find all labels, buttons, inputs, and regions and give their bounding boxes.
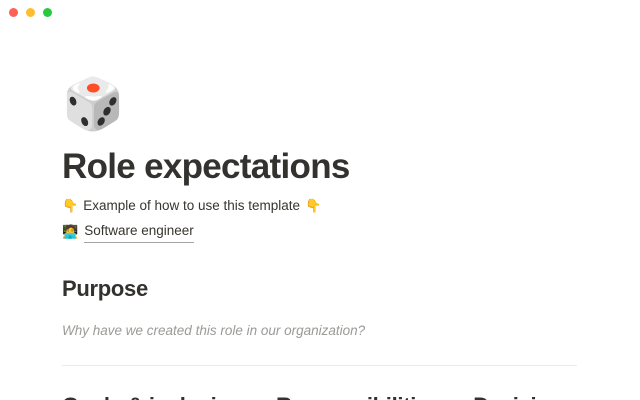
close-window-button[interactable]	[9, 8, 18, 17]
window-titlebar	[0, 0, 640, 28]
technologist-icon: 🧑‍💻	[62, 222, 78, 242]
role-link-software-engineer[interactable]: Software engineer	[84, 221, 194, 243]
section-heading-next: Goals & inclusion — Responsibilities — D…	[62, 392, 578, 400]
app-window: 🎲 Role expectations 👇 Example of how to …	[0, 0, 640, 400]
purpose-prompt-text: Why have we created this role in our org…	[62, 321, 578, 341]
role-line: 🧑‍💻 Software engineer	[62, 221, 578, 243]
document-scroll-area[interactable]: 🎲 Role expectations 👇 Example of how to …	[0, 28, 640, 400]
point-down-icon-left: 👇	[62, 196, 78, 216]
section-heading-purpose: Purpose	[62, 275, 578, 303]
maximize-window-button[interactable]	[43, 8, 52, 17]
document-content: 🎲 Role expectations 👇 Example of how to …	[0, 76, 640, 400]
point-down-icon-right: 👇	[305, 196, 321, 216]
minimize-window-button[interactable]	[26, 8, 35, 17]
template-example-line: 👇 Example of how to use this template 👇	[62, 196, 578, 216]
section-divider	[62, 365, 577, 366]
game-die-emoji[interactable]: 🎲	[62, 76, 578, 132]
page-title: Role expectations	[62, 146, 578, 188]
traffic-light-controls	[9, 8, 52, 17]
template-example-text: Example of how to use this template	[83, 196, 300, 216]
